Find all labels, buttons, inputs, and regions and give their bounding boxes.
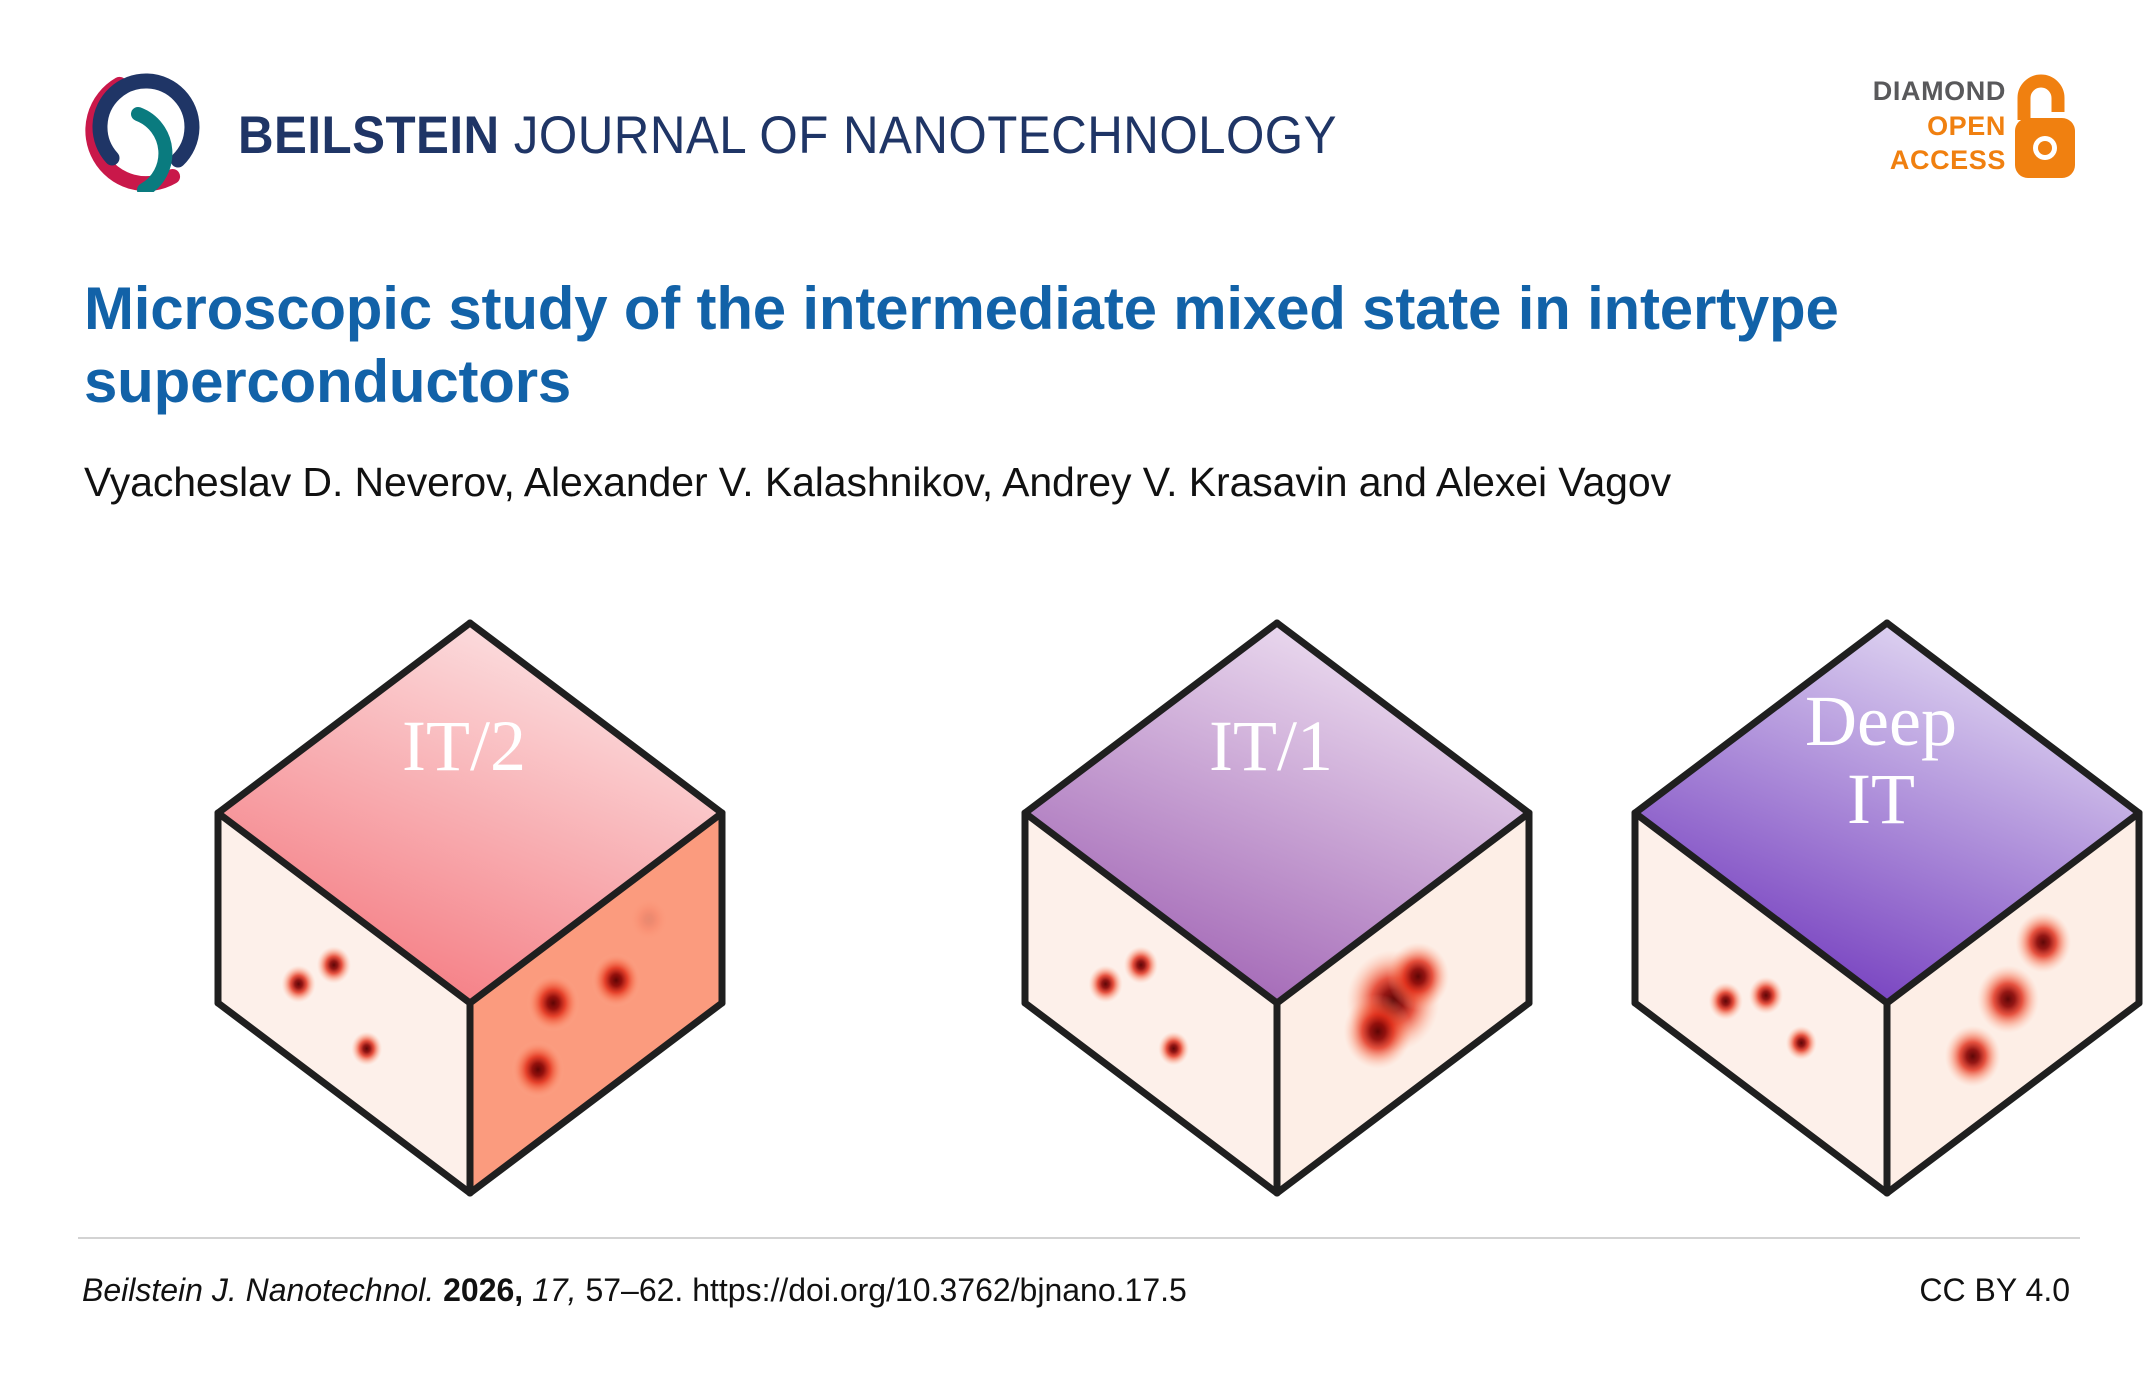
cube-label: IT <box>1847 759 1915 839</box>
vortex-spot <box>591 953 641 1007</box>
cube-1: IT/2 <box>200 595 740 1220</box>
vortex-spot <box>1749 977 1783 1014</box>
oa-line-access: ACCESS <box>1873 143 2006 178</box>
cube-label: IT/2 <box>402 706 526 786</box>
vortex-spot <box>317 946 351 983</box>
oa-line-open: OPEN <box>1873 109 2006 144</box>
cube-graphic-1: IT/2 <box>200 595 740 1215</box>
page-header: BEILSTEIN JOURNAL OF NANOTECHNOLOGY DIAM… <box>0 0 2150 210</box>
vortex-spot <box>1945 1026 2001 1087</box>
author-list: Vyacheslav D. Neverov, Alexander V. Kala… <box>84 456 2004 509</box>
vortex-spot <box>629 897 669 941</box>
vortex-spot <box>1124 946 1158 983</box>
open-lock-icon <box>2012 72 2078 180</box>
graphical-abstract-figure: IT/2IT/1DeepIT <box>0 595 2150 1195</box>
citation-pages-doi: 57–62. https://doi.org/10.3762/bjnano.17… <box>577 1272 1187 1308</box>
vortex-spot <box>1089 965 1123 1002</box>
vortex-spot <box>1786 1026 1817 1060</box>
footer-divider <box>78 1237 2080 1239</box>
oa-line-diamond: DIAMOND <box>1873 74 2006 109</box>
vortex-spot <box>1158 1032 1189 1066</box>
journal-title: BEILSTEIN JOURNAL OF NANOTECHNOLOGY <box>238 105 1337 166</box>
open-access-text: DIAMOND OPEN ACCESS <box>1873 74 2006 178</box>
cube-graphic-2: IT/1 <box>1007 595 1547 1215</box>
page-title: Microscopic study of the intermediate mi… <box>84 272 2004 418</box>
journal-title-bold: BEILSTEIN <box>238 106 500 165</box>
vortex-spot <box>1709 982 1743 1019</box>
citation-journal: Beilstein J. Nanotechnol. <box>82 1272 434 1308</box>
vortex-spot <box>512 1041 565 1099</box>
citation-year: 2026, <box>434 1272 523 1308</box>
citation-line: Beilstein J. Nanotechnol. 2026, 17, 57–6… <box>82 1272 1187 1309</box>
vortex-spot <box>351 1032 382 1066</box>
cube-label: Deep <box>1805 681 1957 761</box>
cube-2: IT/1 <box>1007 595 1547 1220</box>
vortex-spot <box>1344 994 1412 1069</box>
beilstein-ring-logo <box>82 62 212 192</box>
vortex-spot <box>1387 942 1449 1010</box>
open-access-badge: DIAMOND OPEN ACCESS <box>1878 72 2078 182</box>
vortex-spot <box>282 965 316 1002</box>
cube-label: IT/1 <box>1209 706 1333 786</box>
journal-title-light: JOURNAL OF NANOTECHNOLOGY <box>500 106 1337 165</box>
vortex-spot <box>527 974 580 1032</box>
citation-volume: 17, <box>523 1272 576 1308</box>
cube-3: DeepIT <box>1617 595 2150 1220</box>
title-block: Microscopic study of the intermediate mi… <box>84 272 2004 510</box>
license-label: CC BY 4.0 <box>1919 1272 2070 1309</box>
vortex-spot <box>2015 912 2071 973</box>
cube-graphic-3: DeepIT <box>1617 595 2150 1215</box>
vortex-spot <box>1977 965 2039 1033</box>
